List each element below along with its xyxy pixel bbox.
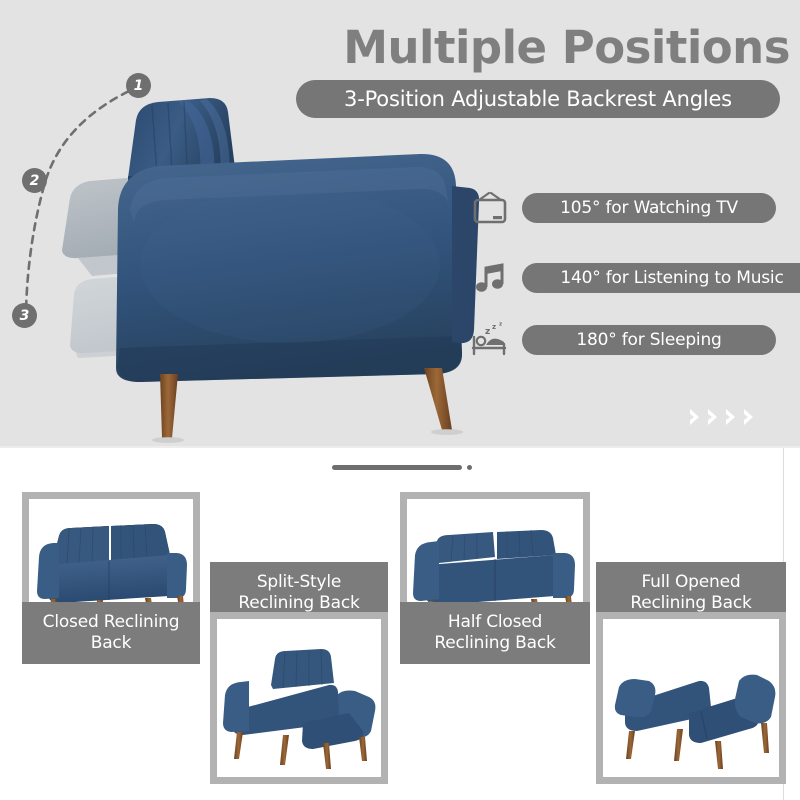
chevron-right-icon[interactable] — [706, 408, 719, 426]
chevron-right-icon[interactable] — [724, 408, 737, 426]
card-caption-closed: Closed Reclining Back — [22, 602, 200, 664]
card-caption-text: Half Closed Reclining Back — [434, 612, 555, 654]
card-frame — [210, 612, 388, 784]
position-card-closed[interactable]: Closed Reclining Back — [22, 492, 200, 664]
chevron-right-icon[interactable] — [742, 408, 755, 426]
top-feature-panel: 1 2 3 Multiple Positions 3-Position Adju… — [0, 0, 800, 448]
feature-pill-listening-music: 140° for Listening to Music — [522, 263, 800, 293]
card-caption-half-closed: Half Closed Reclining Back — [400, 602, 590, 664]
card-caption-text: Full Opened Reclining Back — [630, 572, 751, 614]
svg-text:z: z — [492, 323, 496, 331]
scroll-progress-bar[interactable] — [332, 465, 462, 470]
card-caption-text: Closed Reclining Back — [43, 612, 180, 654]
subtitle-text: 3-Position Adjustable Backrest Angles — [344, 87, 732, 111]
position-marker-1[interactable]: 1 — [126, 73, 151, 98]
feature-row-sleeping: z z z 180° for Sleeping — [470, 320, 776, 360]
position-card-split-style[interactable]: Split-Style Reclining Back — [210, 562, 388, 784]
sofa-photo-full-opened — [603, 619, 779, 777]
card-frame — [596, 612, 786, 784]
feature-pill-watching-tv: 105° for Watching TV — [522, 193, 776, 223]
svg-text:z: z — [485, 327, 490, 337]
position-card-half-closed[interactable]: Half Closed Reclining Back — [400, 492, 590, 664]
feature-pill-sleeping: 180° for Sleeping — [522, 325, 776, 355]
subtitle-pill: 3-Position Adjustable Backrest Angles — [296, 80, 780, 118]
product-infographic: 1 2 3 Multiple Positions 3-Position Adju… — [0, 0, 800, 800]
svg-text:z: z — [499, 322, 502, 328]
page-title: Multiple Positions — [330, 22, 790, 74]
position-marker-2[interactable]: 2 — [22, 168, 47, 193]
chevron-right-icon[interactable] — [688, 408, 701, 426]
tv-icon — [470, 188, 510, 228]
position-card-full-opened[interactable]: Full Opened Reclining Back — [596, 562, 786, 784]
feature-label-watching-tv: 105° for Watching TV — [560, 198, 738, 218]
feature-label-sleeping: 180° for Sleeping — [576, 330, 721, 350]
sofa-photo-split-style — [217, 619, 381, 777]
next-arrows[interactable] — [688, 408, 755, 426]
sleeping-bed-icon: z z z — [470, 320, 510, 360]
sofa-arm-side-panel — [116, 154, 462, 382]
music-note-icon — [470, 258, 510, 298]
feature-row-watching-tv: 105° for Watching TV — [470, 188, 776, 228]
feature-label-listening-music: 140° for Listening to Music — [560, 268, 783, 288]
feature-row-listening-music: 140° for Listening to Music — [470, 258, 800, 298]
position-marker-3[interactable]: 3 — [12, 303, 37, 328]
card-caption-text: Split-Style Reclining Back — [238, 572, 359, 614]
scroll-end-dot[interactable] — [467, 465, 472, 470]
carousel-scroll-indicator[interactable] — [332, 464, 472, 472]
